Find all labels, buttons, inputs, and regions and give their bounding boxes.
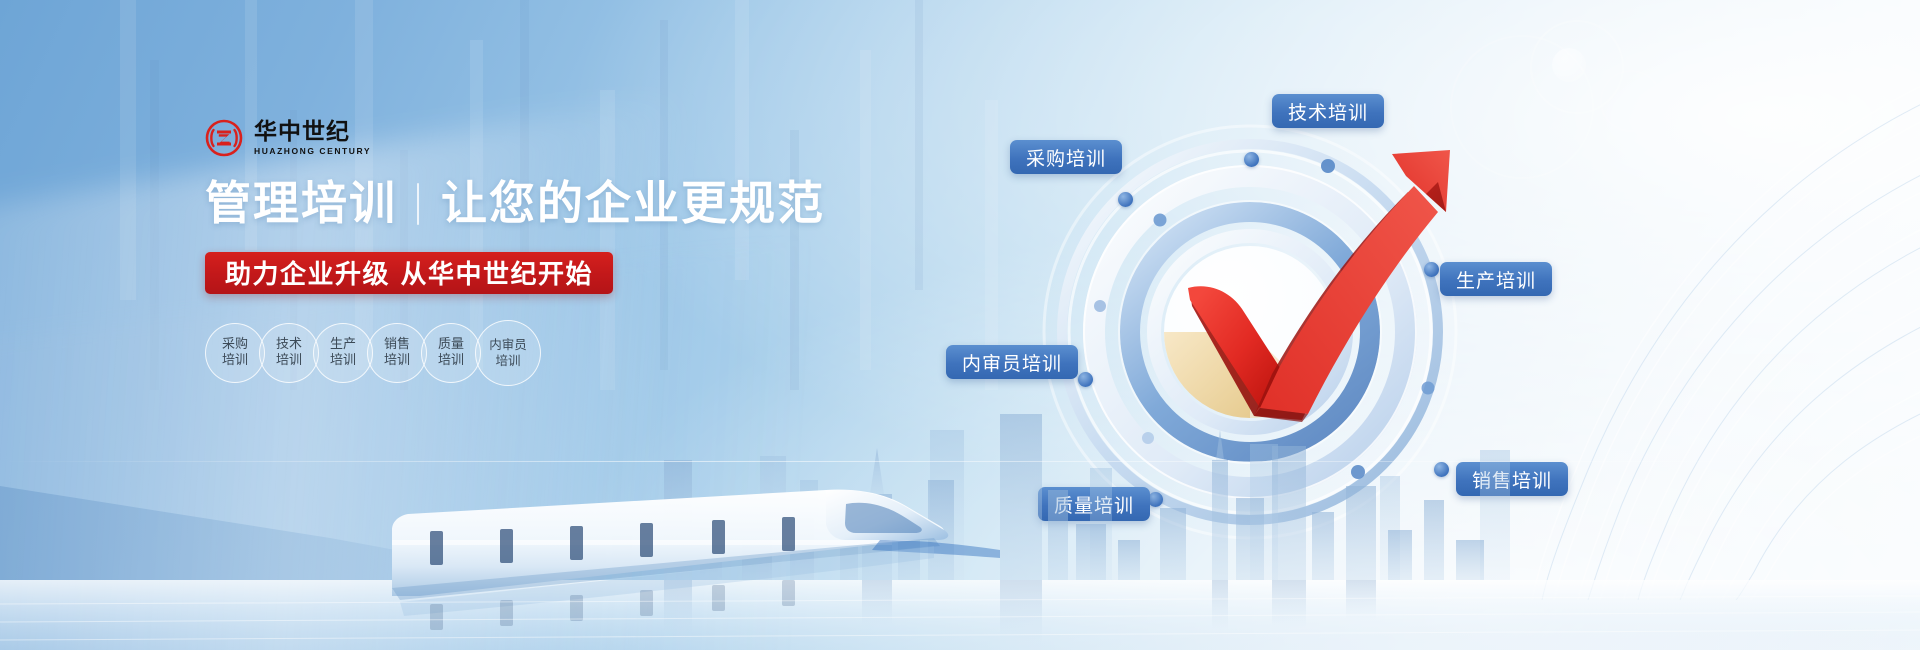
training-chip-list: 采购 培训 技术 培训 生产 培训 销售 培训 质量 培训 内审员 培训	[205, 320, 965, 386]
pill-procurement-label: 采购培训	[1026, 144, 1106, 171]
chip-sales-line2: 培训	[384, 353, 410, 369]
bokeh-ring-small	[1600, 70, 1662, 132]
pill-dot-quality	[1148, 492, 1163, 507]
pill-quality-label: 质量培训	[1054, 491, 1134, 518]
slogan-text: 助力企业升级 从华中世纪开始	[225, 254, 593, 291]
pill-dot-production	[1424, 262, 1439, 277]
floor-sheen	[0, 596, 1920, 640]
chip-technical-line1: 技术	[276, 337, 302, 353]
chip-production-line2: 培训	[330, 353, 356, 369]
brand-wordmark: 华中世纪 HUAZHONG CENTURY	[254, 121, 371, 156]
pill-technical-label: 技术培训	[1288, 98, 1368, 125]
floor-horizon-line	[0, 461, 1920, 462]
target-rings-graphic	[1040, 120, 1460, 540]
bokeh-ring-large	[1450, 35, 1594, 179]
chip-quality-line2: 培训	[438, 353, 464, 369]
pill-sales-label: 销售培训	[1472, 466, 1552, 493]
pill-internal-auditor-label: 内审员培训	[962, 349, 1062, 376]
left-content: 华中世纪 HUAZHONG CENTURY 管理培训 让您的企业更规范 助力企业…	[205, 118, 965, 386]
slogan-badge: 助力企业升级 从华中世纪开始	[205, 252, 613, 294]
headline-secondary: 让您的企业更规范	[441, 178, 825, 230]
pill-production-label: 生产培训	[1456, 266, 1536, 293]
page-title: 管理培训 让您的企业更规范	[205, 178, 965, 230]
chip-technical-line2: 培训	[276, 353, 302, 369]
brand-name-en: HUAZHONG CENTURY	[254, 147, 371, 156]
headline-primary: 管理培训	[205, 178, 397, 230]
pill-dot-internal-auditor	[1078, 372, 1093, 387]
pill-internal-auditor[interactable]: 内审员培训	[946, 345, 1078, 379]
city-train-scene	[0, 390, 1920, 650]
high-speed-train-icon	[392, 490, 1000, 630]
pill-dot-procurement	[1118, 192, 1133, 207]
chip-production[interactable]: 生产 培训	[313, 323, 373, 383]
chip-quality[interactable]: 质量 培训	[421, 323, 481, 383]
chip-sales-line1: 销售	[384, 337, 410, 353]
chip-procurement-line1: 采购	[222, 337, 248, 353]
chip-quality-line1: 质量	[438, 337, 464, 353]
huazhong-circle-z-logo-icon	[205, 119, 243, 157]
chip-sales[interactable]: 销售 培训	[367, 323, 427, 383]
brand-name-cn: 华中世纪	[254, 121, 371, 144]
chip-internal-auditor-line2: 培训	[495, 353, 520, 368]
skyline-reflection	[664, 580, 1376, 642]
chip-procurement-line2: 培训	[222, 353, 248, 369]
bokeh-ring-medium	[1530, 20, 1624, 114]
pill-dot-technical	[1244, 152, 1259, 167]
chip-production-line1: 生产	[330, 337, 356, 353]
pill-technical[interactable]: 技术培训	[1272, 94, 1384, 128]
pill-dot-sales	[1434, 462, 1449, 477]
pill-procurement[interactable]: 采购培训	[1010, 140, 1122, 174]
bokeh-dot-small	[1552, 48, 1586, 82]
pill-sales[interactable]: 销售培训	[1456, 462, 1568, 496]
reflective-floor	[0, 580, 1920, 650]
training-banner: 采购培训 技术培训 生产培训 内审员培训 质量培训 销售培训	[0, 0, 1920, 650]
chip-internal-auditor[interactable]: 内审员 培训	[475, 320, 541, 386]
chip-procurement[interactable]: 采购 培训	[205, 323, 265, 383]
chip-technical[interactable]: 技术 培训	[259, 323, 319, 383]
pill-production[interactable]: 生产培训	[1440, 262, 1552, 296]
headline-divider	[417, 183, 419, 225]
brand-logo: 华中世纪 HUAZHONG CENTURY	[205, 118, 965, 158]
pill-quality[interactable]: 质量培训	[1038, 487, 1150, 521]
chip-internal-auditor-line1: 内审员	[489, 337, 527, 352]
ground-wedge	[0, 486, 560, 580]
